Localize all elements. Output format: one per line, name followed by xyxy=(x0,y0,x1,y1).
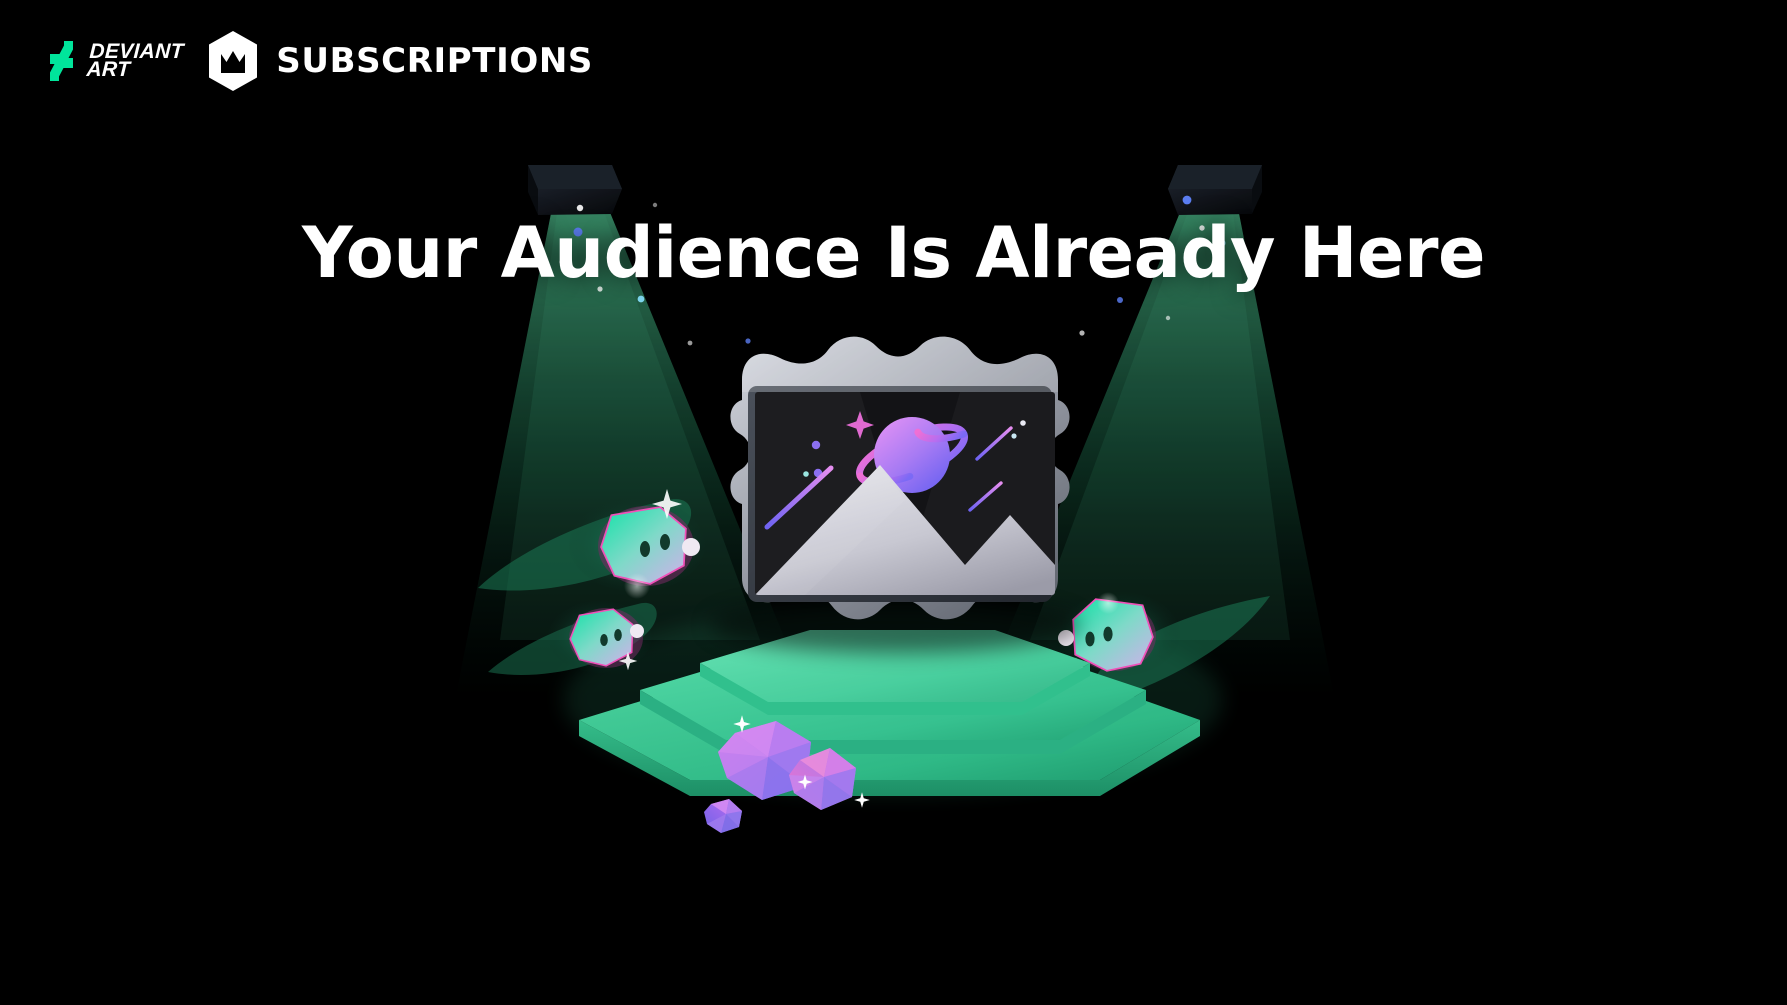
crown-hexagon-icon xyxy=(205,30,261,92)
subscriptions-label: SUBSCRIPTIONS xyxy=(276,41,593,81)
frame-artwork xyxy=(755,392,1055,595)
subscriptions-logo[interactable]: SUBSCRIPTIONS xyxy=(205,30,593,92)
hero-illustration xyxy=(0,0,1787,1005)
deviantart-mark-icon xyxy=(50,41,80,81)
art-frame xyxy=(710,337,1080,653)
deviantart-line2: ART xyxy=(86,61,183,79)
deviantart-wordmark: DEVIANT ART xyxy=(88,43,184,79)
page-title: Your Audience Is Already Here xyxy=(0,212,1787,294)
brand-header: DEVIANT ART SUBSCRIPTIONS xyxy=(50,30,593,92)
deviantart-logo[interactable]: DEVIANT ART xyxy=(50,32,183,90)
gem-small xyxy=(704,799,742,833)
page-root: Your Audience Is Already Here DEVIANT AR… xyxy=(0,0,1787,1005)
